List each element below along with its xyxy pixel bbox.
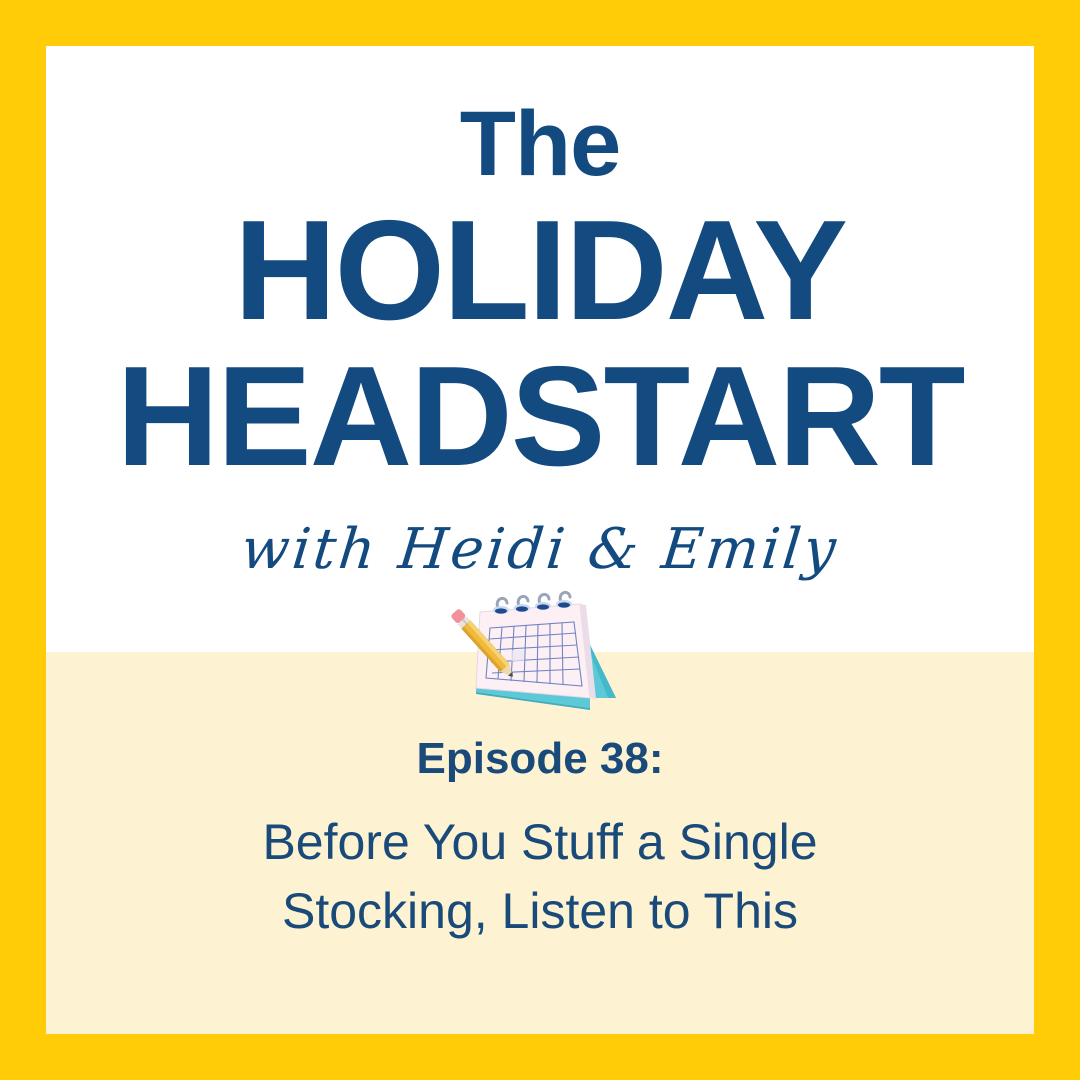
podcast-cover-art: The HOLIDAY HEADSTART with Heidi & Emily bbox=[0, 0, 1080, 1080]
episode-title: Before You Stuff a Single Stocking, List… bbox=[46, 808, 1034, 946]
episode-title-line-1: Before You Stuff a Single bbox=[46, 808, 1034, 877]
host-tagline: with Heidi & Emily bbox=[46, 517, 1034, 582]
title-the: The bbox=[46, 98, 1034, 190]
desk-calendar-icon bbox=[440, 586, 640, 716]
show-title-block: The HOLIDAY HEADSTART with Heidi & Emily bbox=[46, 98, 1034, 582]
show-title-main: HOLIDAY HEADSTART bbox=[46, 198, 1034, 491]
title-line-headstart: HEADSTART bbox=[46, 344, 1034, 490]
calendar-illustration bbox=[440, 586, 640, 716]
cover-inner-card: The HOLIDAY HEADSTART with Heidi & Emily bbox=[46, 46, 1034, 1034]
episode-number: Episode 38: bbox=[46, 734, 1034, 784]
episode-info-block: Episode 38: Before You Stuff a Single St… bbox=[46, 734, 1034, 946]
title-line-holiday: HOLIDAY bbox=[46, 198, 1034, 344]
episode-title-line-2: Stocking, Listen to This bbox=[46, 877, 1034, 946]
